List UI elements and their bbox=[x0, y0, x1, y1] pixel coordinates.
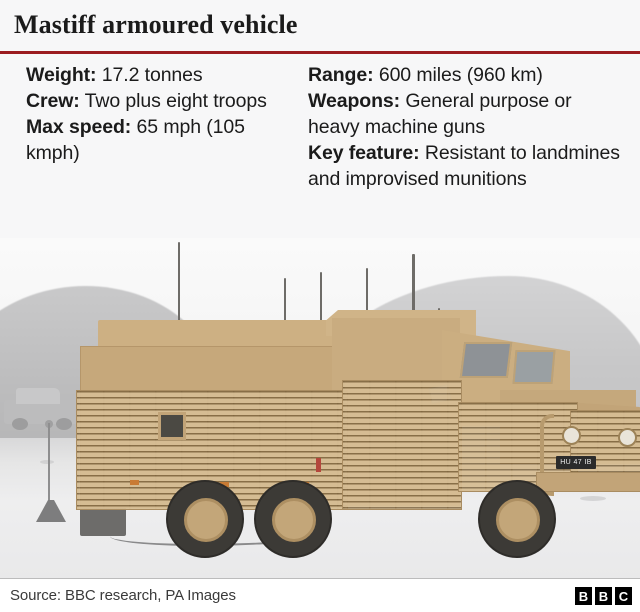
spec-max-speed-label: Max speed: bbox=[26, 116, 131, 138]
background-vehicle-wheel bbox=[12, 418, 28, 430]
antenna-icon bbox=[320, 272, 322, 324]
wheel-rear bbox=[166, 480, 244, 558]
spec-range: Range: 600 miles (960 km) bbox=[308, 62, 628, 88]
wheel-front bbox=[478, 480, 556, 558]
bbc-logo-letter-3: C bbox=[615, 587, 632, 605]
mastiff-vehicle: HU 47 IB bbox=[70, 294, 630, 544]
header: Mastiff armoured vehicle bbox=[0, 0, 640, 54]
spec-crew-label: Crew: bbox=[26, 90, 80, 112]
spec-max-speed: Max speed: 65 mph (105 kmph) bbox=[26, 114, 294, 166]
footer: Source: BBC research, PA Images B B C bbox=[0, 578, 640, 612]
spec-weapons-label: Weapons: bbox=[308, 90, 400, 112]
spec-weight: Weight: 17.2 tonnes bbox=[26, 62, 294, 88]
antenna-icon bbox=[284, 278, 286, 324]
gun-port bbox=[158, 412, 186, 440]
spec-crew-value: Two plus eight troops bbox=[80, 90, 267, 112]
background-vehicle-cab bbox=[16, 388, 60, 404]
wheel-middle bbox=[254, 480, 332, 558]
source-credit: Source: BBC research, PA Images bbox=[10, 587, 236, 604]
spec-range-label: Range: bbox=[308, 64, 374, 86]
side-window bbox=[513, 350, 556, 384]
title-divider bbox=[0, 51, 640, 54]
spec-key-feature: Key feature: Resistant to landmines and … bbox=[308, 140, 628, 192]
headlamp-icon bbox=[618, 428, 637, 447]
bbc-logo: B B C bbox=[575, 587, 632, 605]
front-bumper bbox=[536, 472, 640, 492]
infographic-card: Mastiff armoured vehicle Weight: 17.2 to… bbox=[0, 0, 640, 612]
spec-weapons: Weapons: General purpose or heavy machin… bbox=[308, 88, 628, 140]
bbc-logo-letter-1: B bbox=[575, 587, 592, 605]
spec-range-value: 600 miles (960 km) bbox=[374, 64, 543, 86]
number-plate: HU 47 IB bbox=[556, 456, 596, 469]
spec-key-feature-label: Key feature: bbox=[308, 142, 420, 164]
headlamp-icon bbox=[562, 426, 581, 445]
antenna-mast bbox=[48, 423, 50, 505]
vehicle-photo: HU 47 IB bbox=[0, 238, 640, 578]
spec-weight-value: 17.2 tonnes bbox=[96, 64, 202, 86]
spec-crew: Crew: Two plus eight troops bbox=[26, 88, 294, 114]
specs-section: Weight: 17.2 tonnes Crew: Two plus eight… bbox=[0, 62, 640, 252]
spec-weight-label: Weight: bbox=[26, 64, 96, 86]
specs-left-column: Weight: 17.2 tonnes Crew: Two plus eight… bbox=[0, 62, 300, 252]
orange-marker bbox=[130, 480, 139, 485]
red-marker bbox=[316, 458, 321, 472]
page-title: Mastiff armoured vehicle bbox=[14, 10, 298, 40]
windshield bbox=[460, 342, 512, 378]
specs-right-column: Range: 600 miles (960 km) Weapons: Gener… bbox=[300, 62, 640, 252]
bbc-logo-letter-2: B bbox=[595, 587, 612, 605]
ground-detail bbox=[40, 460, 54, 464]
slat-armour-mid bbox=[342, 380, 462, 510]
